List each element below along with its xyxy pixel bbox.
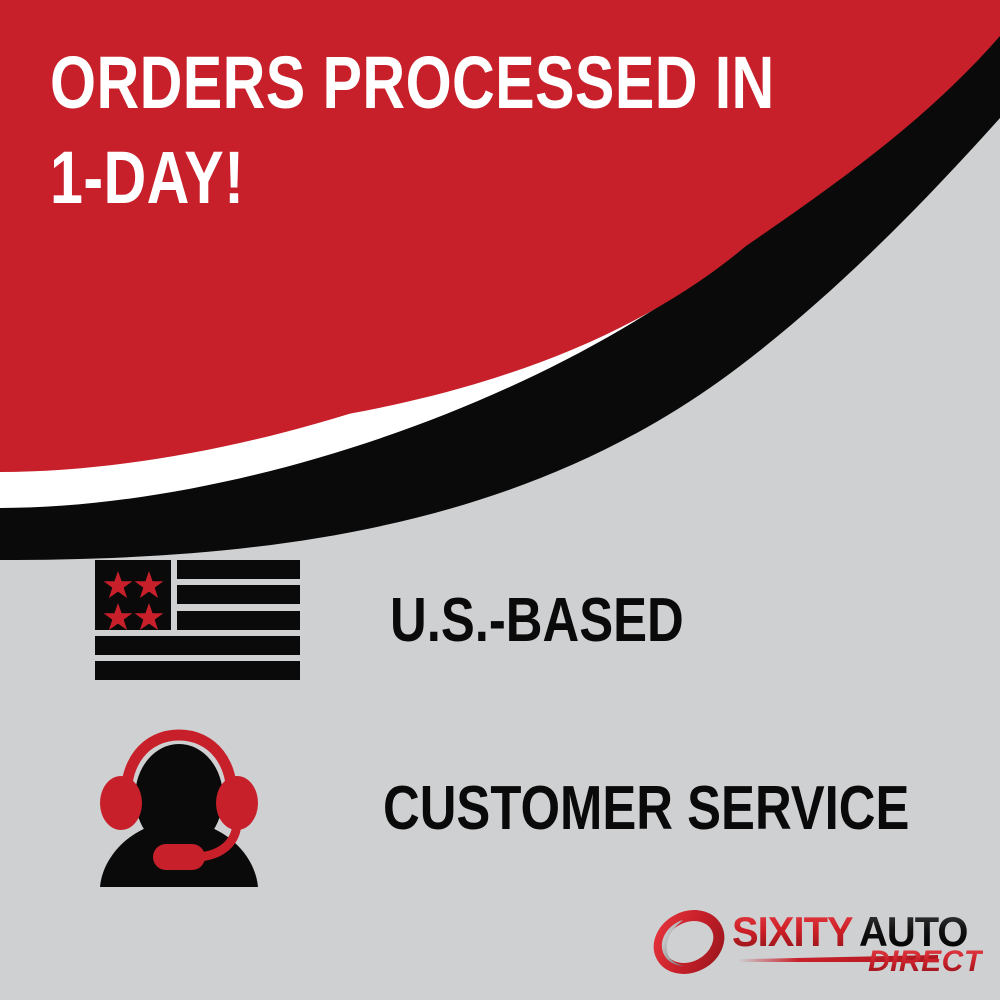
- us-flag-icon: [95, 560, 300, 680]
- logo-word-direct: DIRECT: [868, 947, 983, 977]
- headline: ORDERS PROCESSED IN 1-DAY!: [50, 46, 810, 215]
- sixity-ring-icon: [650, 909, 728, 975]
- headline-line-2: 1-DAY!: [50, 141, 658, 214]
- feature-label-customer-service: CUSTOMER SERVICE: [383, 778, 909, 840]
- agent-head: [135, 744, 223, 850]
- feature-row-customer-service: CUSTOMER SERVICE: [95, 725, 1000, 890]
- sixity-auto-direct-logo[interactable]: SIXITYAUTO DIRECT: [650, 905, 980, 985]
- headline-line-1: ORDERS PROCESSED IN: [50, 46, 658, 119]
- headset-agent-icon: [95, 725, 263, 890]
- promo-banner: ORDERS PROCESSED IN 1-DAY!: [0, 0, 1000, 1000]
- headset-mouthpiece: [153, 844, 205, 870]
- ring-outer: [650, 909, 728, 975]
- flag-long-stripes: [95, 636, 300, 680]
- flag-canton: [95, 560, 171, 630]
- feature-label-us-based: U.S.-BASED: [390, 590, 684, 652]
- headset-agent-svg: [95, 725, 263, 890]
- us-flag-svg: [95, 560, 300, 680]
- headset-earcup-left: [100, 776, 142, 830]
- flag-short-stripes: [177, 560, 300, 630]
- feature-row-us-based: U.S.-BASED: [95, 560, 748, 680]
- logo-word-sixity: SIXITY: [732, 911, 853, 953]
